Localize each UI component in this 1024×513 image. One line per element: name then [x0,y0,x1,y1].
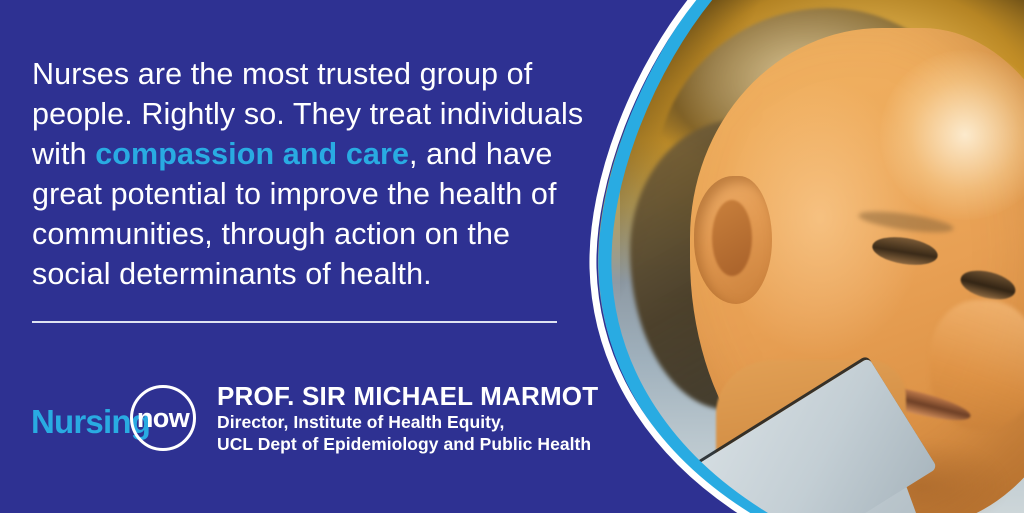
quote-text: Nurses are the most trusted group of peo… [32,54,592,294]
logo-now-text: now [130,385,196,451]
horizontal-divider [32,321,557,323]
ear-inner [712,200,752,276]
attribution-name: PROF. SIR MICHAEL MARMOT [217,381,598,411]
nursing-now-logo[interactable]: Nursing now [31,383,203,455]
attribution-role-line-2: UCL Dept of Epidemiology and Public Heal… [217,433,598,455]
quote-card: Nurses are the most trusted group of peo… [0,0,1024,513]
attribution-role-line-1: Director, Institute of Health Equity, [217,411,598,433]
attribution-block: PROF. SIR MICHAEL MARMOT Director, Insti… [217,381,598,455]
quote-highlight: compassion and care [95,137,409,171]
